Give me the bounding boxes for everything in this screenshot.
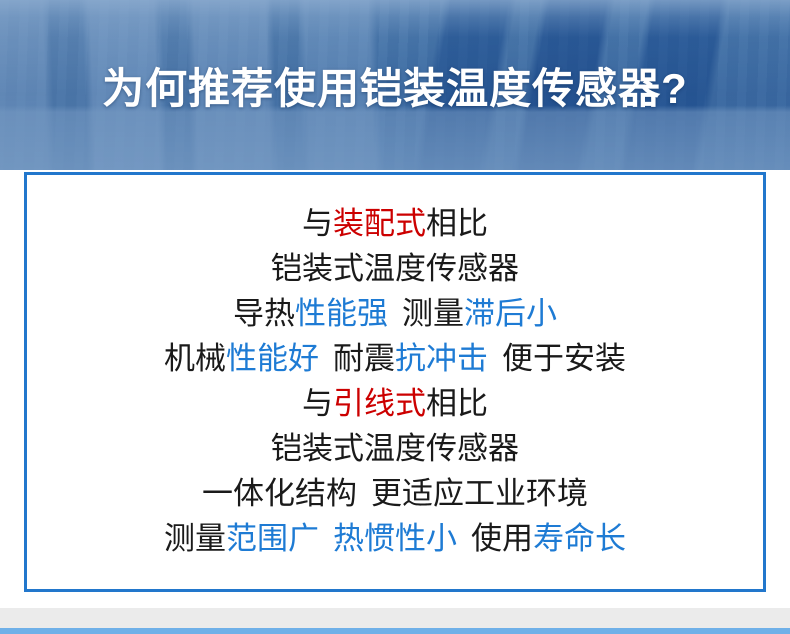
feature-text-segment: 性能强 <box>295 296 388 331</box>
feature-text-segment: 引线式 <box>333 386 426 421</box>
product-feature-banner: 为何推荐使用铠装温度传感器? 与装配式相比铠装式温度传感器导热性能强测量滞后小机… <box>0 0 790 634</box>
feature-text-segment: 一体化结构 <box>202 476 357 511</box>
feature-text-segment: 便于安装 <box>502 341 626 376</box>
feature-line: 铠装式温度传感器 <box>27 426 763 471</box>
feature-text-segment: 使用 <box>471 521 533 556</box>
feature-text-segment: 相比 <box>426 386 488 421</box>
feature-text-segment: 性能好 <box>226 341 319 376</box>
feature-line-list: 与装配式相比铠装式温度传感器导热性能强测量滞后小机械性能好耐震抗冲击便于安装与引… <box>27 201 763 561</box>
feature-text-segment: 更适应工业环境 <box>371 476 588 511</box>
feature-text-segment: 与 <box>302 386 333 421</box>
feature-line: 测量范围广热惯性小使用寿命长 <box>27 516 763 561</box>
feature-text-segment: 测量 <box>164 521 226 556</box>
feature-line: 导热性能强测量滞后小 <box>27 291 763 336</box>
feature-text-segment: 滞后小 <box>464 296 557 331</box>
feature-text-segment: 测量 <box>402 296 464 331</box>
feature-line: 与装配式相比 <box>27 201 763 246</box>
feature-text-segment: 与 <box>302 206 333 241</box>
feature-text-segment: 铠装式温度传感器 <box>271 251 519 286</box>
feature-line: 机械性能好耐震抗冲击便于安装 <box>27 336 763 381</box>
feature-text-segment: 导热 <box>233 296 295 331</box>
feature-line: 与引线式相比 <box>27 381 763 426</box>
footer-gray-strip <box>0 608 790 628</box>
feature-text-segment: 机械 <box>164 341 226 376</box>
feature-text-segment: 铠装式温度传感器 <box>271 431 519 466</box>
footer-blue-strip <box>0 628 790 634</box>
feature-text-segment: 热惯性小 <box>333 521 457 556</box>
feature-text-segment: 相比 <box>426 206 488 241</box>
feature-frame: 与装配式相比铠装式温度传感器导热性能强测量滞后小机械性能好耐震抗冲击便于安装与引… <box>24 172 766 592</box>
feature-text-segment: 装配式 <box>333 206 426 241</box>
feature-text-segment: 寿命长 <box>533 521 626 556</box>
feature-text-segment: 范围广 <box>226 521 319 556</box>
feature-line: 铠装式温度传感器 <box>27 246 763 291</box>
feature-line: 一体化结构更适应工业环境 <box>27 471 763 516</box>
feature-text-segment: 抗冲击 <box>395 341 488 376</box>
hero-banner: 为何推荐使用铠装温度传感器? <box>0 0 790 170</box>
feature-text-segment: 耐震 <box>333 341 395 376</box>
page-title: 为何推荐使用铠装温度传感器? <box>0 68 790 110</box>
